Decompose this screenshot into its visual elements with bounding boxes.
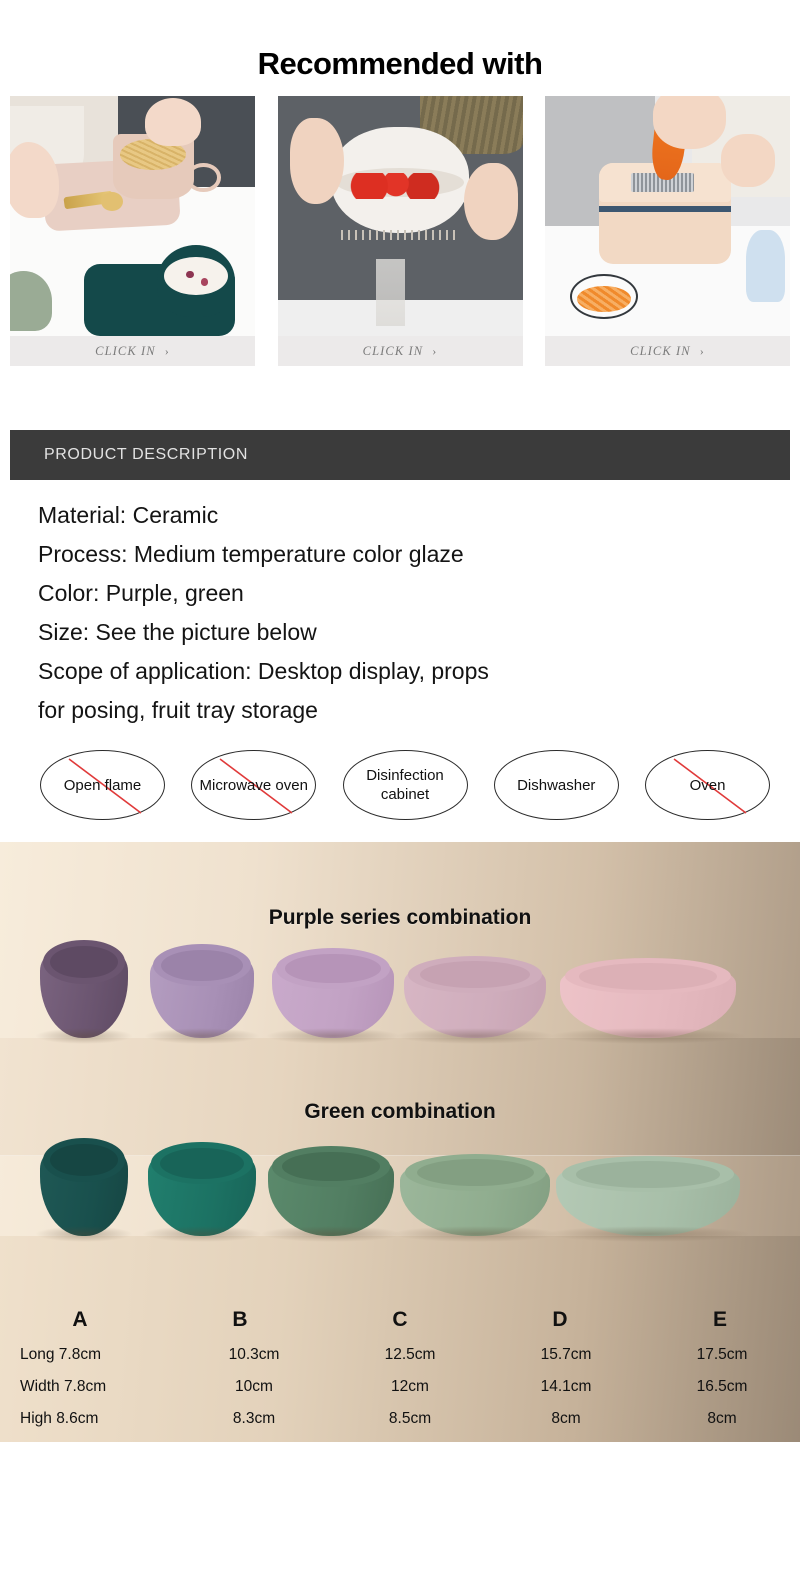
size-cell-width-D: 14.1cm [488, 1378, 644, 1396]
green-bowl-E [556, 1158, 740, 1236]
size-column-D: D [480, 1308, 640, 1332]
bowl-interior [161, 950, 242, 981]
chevron-right-icon: › [700, 344, 705, 359]
product-detail-page: Recommended with CLICK IN › [0, 0, 800, 1580]
desc-line-scope: Scope of application: Desktop display, p… [38, 652, 508, 730]
bowl-shadow [35, 1226, 134, 1242]
pasta-bowl-photo[interactable] [10, 96, 255, 336]
purple-bowl-C [272, 950, 394, 1038]
bowl-showcase-photo: Purple series combination Green combinat… [0, 842, 800, 1442]
care-badge-label: Open flame [64, 776, 142, 795]
bowl-shadow [142, 1226, 263, 1242]
care-badge-label: Disinfection cabinet [344, 766, 467, 804]
recommended-card-3[interactable]: CLICK IN › [545, 96, 790, 366]
bowl-shadow [545, 1226, 751, 1242]
bowl-interior [160, 1148, 244, 1179]
desc-line-size: Size: See the picture below [38, 613, 508, 652]
recommended-heading: Recommended with [0, 0, 800, 96]
click-in-text: CLICK IN [95, 344, 156, 359]
purple-bowl-D [404, 958, 546, 1038]
size-column-C: C [320, 1308, 480, 1332]
size-cell-high-C: 8.5cm [332, 1410, 488, 1428]
green-bowl-B [148, 1144, 256, 1236]
care-badge-label: Microwave oven [200, 776, 308, 795]
size-cell-width-C: 12cm [332, 1378, 488, 1396]
green-bowl-A [40, 1140, 128, 1236]
size-cell-long-D: 15.7cm [488, 1346, 644, 1364]
chevron-right-icon: › [165, 344, 170, 359]
bowl-shadow [391, 1226, 559, 1242]
click-in-label-3[interactable]: CLICK IN › [545, 336, 790, 366]
care-badge-open-flame: Open flame [40, 750, 165, 820]
desc-line-color: Color: Purple, green [38, 574, 508, 613]
desc-line-process: Process: Medium temperature color glaze [38, 535, 508, 574]
purple-bowl-A [40, 942, 128, 1038]
size-cell-high-E: 8cm [644, 1410, 800, 1428]
care-badge-microwave-oven: Microwave oven [191, 750, 316, 820]
size-cell-width-B: 10cm [176, 1378, 332, 1396]
bowl-interior [579, 963, 716, 990]
bowl-shadow [35, 1028, 134, 1044]
size-row-long: Long 7.8cm10.3cm12.5cm15.7cm17.5cm [0, 1346, 800, 1364]
size-cell-high-B: 8.3cm [176, 1410, 332, 1428]
size-column-B: B [160, 1308, 320, 1332]
size-table-header: ABCDE [0, 1308, 800, 1332]
size-column-A: A [0, 1308, 160, 1332]
size-cell-width-A: Width 7.8cm [0, 1378, 176, 1396]
size-cell-high-D: 8cm [488, 1410, 644, 1428]
desc-line-material: Material: Ceramic [38, 496, 508, 535]
care-badge-disinfection-cabinet: Disinfection cabinet [343, 750, 468, 820]
click-in-label-2[interactable]: CLICK IN › [278, 336, 523, 366]
size-row-width: Width 7.8cm10cm12cm14.1cm16.5cm [0, 1378, 800, 1396]
bowl-interior [285, 954, 380, 984]
recommended-card-1[interactable]: CLICK IN › [10, 96, 255, 366]
size-cell-width-E: 16.5cm [644, 1378, 800, 1396]
click-in-text: CLICK IN [630, 344, 691, 359]
product-description-body: Material: Ceramic Process: Medium temper… [0, 480, 800, 730]
size-cell-long-B: 10.3cm [176, 1346, 332, 1364]
size-column-E: E [640, 1308, 800, 1332]
purple-bowl-E [560, 960, 736, 1038]
click-in-text: CLICK IN [363, 344, 424, 359]
click-in-label-1[interactable]: CLICK IN › [10, 336, 255, 366]
chevron-right-icon: › [432, 344, 437, 359]
product-description-header: PRODUCT DESCRIPTION [10, 430, 790, 480]
bowl-shadow [265, 1028, 402, 1044]
care-badge-dishwasher: Dishwasher [494, 750, 619, 820]
care-badge-label: Oven [690, 776, 726, 795]
recommended-cards: CLICK IN › CLICK IN › [0, 96, 800, 366]
green-bowl-D [400, 1156, 550, 1236]
bowl-interior [576, 1161, 720, 1188]
green-series-title: Green combination [0, 1100, 800, 1124]
care-badge-oven: Oven [645, 750, 770, 820]
colander-photo[interactable] [278, 96, 523, 336]
slicer-photo[interactable] [545, 96, 790, 336]
care-badge-label: Dishwasher [517, 776, 595, 795]
size-table: ABCDE Long 7.8cm10.3cm12.5cm15.7cm17.5cm… [0, 1308, 800, 1428]
purple-bowl-B [150, 946, 254, 1038]
size-cell-high-A: High 8.6cm [0, 1410, 176, 1428]
care-badges: Open flame Microwave oven Disinfection c… [0, 730, 800, 820]
size-table-body: Long 7.8cm10.3cm12.5cm15.7cm17.5cmWidth … [0, 1346, 800, 1428]
size-cell-long-E: 17.5cm [644, 1346, 800, 1364]
bowl-interior [282, 1152, 380, 1182]
green-bowl-C [268, 1148, 394, 1236]
recommended-card-2[interactable]: CLICK IN › [278, 96, 523, 366]
product-description-title: PRODUCT DESCRIPTION [44, 446, 248, 464]
size-cell-long-A: Long 7.8cm [0, 1346, 176, 1364]
size-row-high: High 8.6cm8.3cm8.5cm8cm8cm [0, 1410, 800, 1428]
purple-series-title: Purple series combination [0, 906, 800, 930]
bowl-shadow [549, 1028, 746, 1044]
size-cell-long-C: 12.5cm [332, 1346, 488, 1364]
bowl-shadow [144, 1028, 260, 1044]
bowl-shadow [395, 1028, 554, 1044]
bowl-shadow [260, 1226, 401, 1242]
